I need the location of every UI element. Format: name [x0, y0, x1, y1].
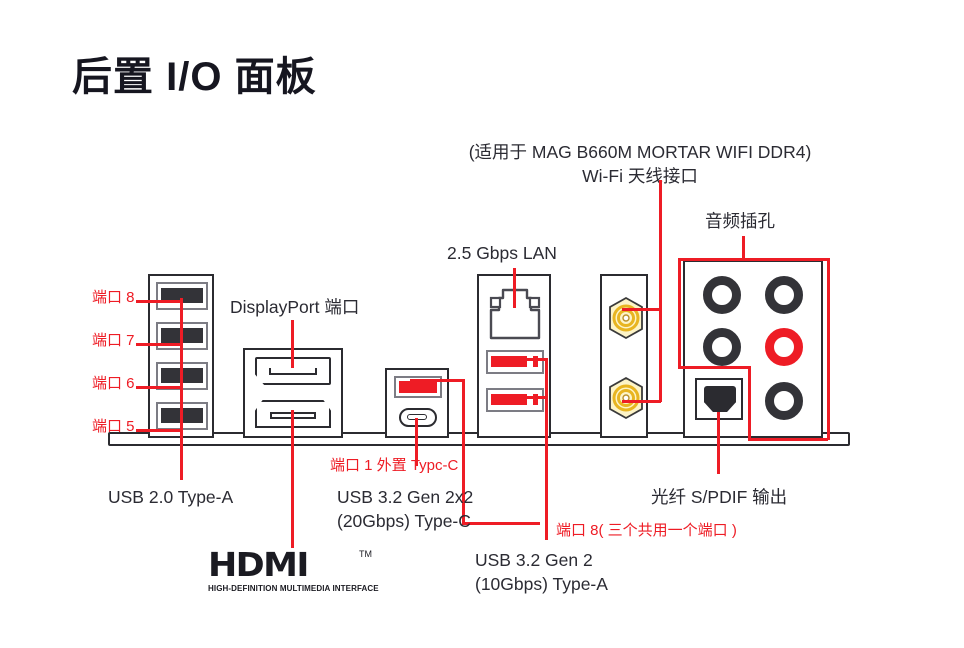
callout-line-port6	[136, 386, 182, 389]
audio-bracket-right	[827, 258, 830, 440]
usb-type-a-port-icon[interactable]	[486, 388, 544, 412]
callout-line-usb32-b	[520, 396, 548, 399]
audio-jack-line-out-icon[interactable]	[765, 328, 803, 366]
displayport-label: DisplayPort 端口	[230, 296, 359, 320]
usb-type-c-port-icon[interactable]	[399, 408, 437, 427]
callout-line-hdmi	[291, 410, 294, 548]
wifi-antenna-block	[600, 274, 648, 438]
audio-jack-icon[interactable]	[765, 276, 803, 314]
audio-bracket-inner	[748, 366, 751, 440]
red-label-port-7: 端口 7	[92, 331, 135, 351]
spdif-caption: 光纤 S/PDIF 输出	[651, 486, 787, 510]
callout-line-usb32-a	[520, 358, 548, 361]
callout-line-shared-a	[410, 379, 465, 382]
usb-32-gen2-line2: (10Gbps) Type-A	[475, 573, 608, 597]
audio-jack-icon[interactable]	[703, 276, 741, 314]
callout-line-lan	[513, 268, 516, 308]
callout-line-wifi-a	[622, 308, 661, 311]
red-label-port8-shared: 端口 8( 三个共用一个端口 )	[556, 521, 737, 541]
audio-jacks-label: 音频插孔	[705, 210, 775, 234]
callout-line-port7	[136, 343, 182, 346]
red-label-port1-typec: 端口 1 外置 Typc-C	[330, 456, 458, 476]
spdif-core	[704, 386, 736, 412]
usb-32-gen2x2-line2: (20Gbps) Type-C	[337, 510, 473, 534]
red-label-port-6: 端口 6	[92, 374, 135, 394]
callout-line-wifi-top	[659, 180, 662, 310]
callout-spine-usb32	[545, 358, 548, 540]
audio-bracket-left	[678, 258, 681, 368]
audio-jack-icon[interactable]	[703, 328, 741, 366]
hdmi-trademark-symbol: TM	[359, 549, 372, 559]
audio-jack-icon[interactable]	[765, 382, 803, 420]
wifi-antenna-connector-icon[interactable]	[606, 296, 646, 340]
antenna-svg	[606, 376, 646, 420]
audio-bracket-bottom	[748, 438, 828, 441]
usb-32-gen2-caption: USB 3.2 Gen 2 (10Gbps) Type-A	[475, 549, 608, 596]
callout-line-audio	[742, 236, 745, 260]
callout-line-shared-b	[462, 522, 540, 525]
callout-spine-usb2	[180, 298, 183, 480]
page-title: 后置 I/O 面板	[72, 44, 317, 102]
usb-32-gen2-line1: USB 3.2 Gen 2	[475, 549, 608, 573]
hdmi-logo: HDMI TM HIGH-DEFINITION MULTIMEDIA INTER…	[208, 548, 370, 593]
rear-io-panel-diagram: 后置 I/O 面板 (适用于 MAG B660M MORTAR WIFI DDR…	[0, 0, 964, 648]
wifi-antenna-note: (适用于 MAG B660M MORTAR WIFI DDR4)	[440, 141, 840, 165]
displayport-slot	[269, 368, 317, 375]
usb-port-tongue	[399, 381, 437, 393]
callout-line-displayport	[291, 320, 294, 368]
callout-line-port8	[136, 300, 182, 303]
callout-line-port5	[136, 429, 182, 432]
usb-32-gen2x2-caption: USB 3.2 Gen 2x2 (20Gbps) Type-C	[337, 486, 473, 533]
red-label-port-8: 端口 8	[92, 288, 135, 308]
audio-jacks-block	[683, 260, 823, 438]
callout-line-spdif	[717, 412, 720, 474]
audio-bracket-top	[678, 258, 830, 261]
lan-label: 2.5 Gbps LAN	[447, 242, 557, 266]
usb-2-0-caption: USB 2.0 Type-A	[108, 486, 233, 510]
wifi-antenna-label: Wi-Fi 天线接口	[440, 165, 840, 189]
callout-line-wifi-spine	[659, 308, 662, 402]
wifi-antenna-callout: (适用于 MAG B660M MORTAR WIFI DDR4) Wi-Fi 天…	[440, 141, 840, 188]
audio-bracket-mid	[678, 366, 750, 369]
hdmi-wordmark: HDMI	[208, 548, 380, 581]
usb-32-gen2x2-line1: USB 3.2 Gen 2x2	[337, 486, 473, 510]
usb-type-a-port-icon[interactable]	[486, 350, 544, 374]
callout-line-wifi-b	[622, 400, 661, 403]
wifi-antenna-connector-icon[interactable]	[606, 376, 646, 420]
antenna-svg	[606, 296, 646, 340]
hdmi-subtitle: HIGH-DEFINITION MULTIMEDIA INTERFACE	[208, 584, 370, 593]
